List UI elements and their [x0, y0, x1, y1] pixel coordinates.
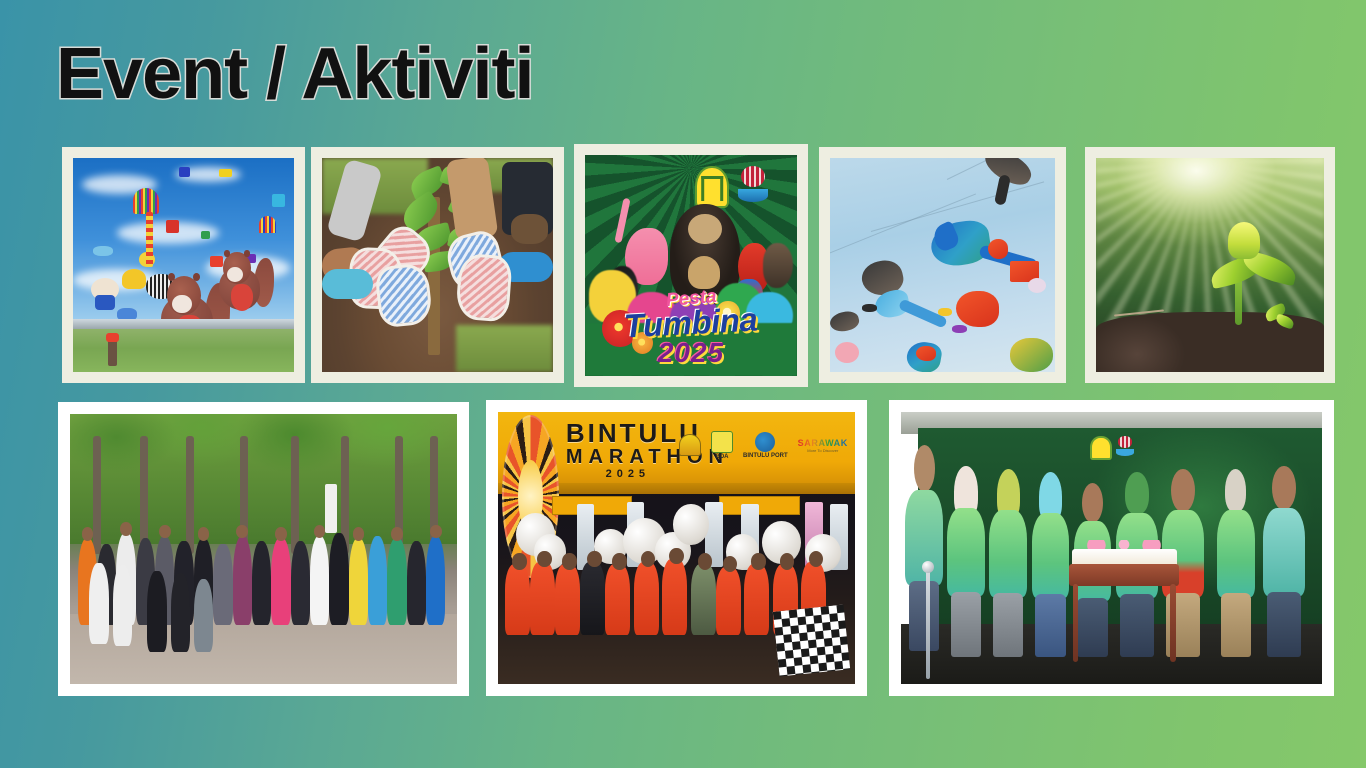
- attendee: [989, 469, 1027, 657]
- photo-frame-cake-cutting-ceremony[interactable]: [889, 400, 1334, 696]
- council-shield-logo: [695, 166, 729, 208]
- stanchion-post: [926, 570, 930, 679]
- sarawak-crest-logo: [679, 434, 701, 457]
- attendee: [1217, 469, 1255, 657]
- marathon-title-line3: 2025: [566, 469, 690, 480]
- marathon-sponsor-logos: BDA BINTULU PORT SARAWAK More To Discove…: [679, 431, 848, 461]
- ceremony-table: [1069, 564, 1178, 662]
- squirrel-kite: [219, 252, 272, 320]
- photo-frame-community-run-group[interactable]: [58, 402, 469, 696]
- council-shield-logo: [1090, 436, 1112, 460]
- photo-animal-kites: [830, 158, 1055, 372]
- attendee: [905, 445, 943, 652]
- poster-logos: [695, 166, 788, 208]
- photo-cake-cutting-ceremony: [901, 412, 1322, 684]
- photo-frame-kite-festival[interactable]: [62, 147, 305, 383]
- sarawak-wordmark: SARAWAK More To Discover: [798, 438, 848, 453]
- photo-frame-pesta-tumbina-poster[interactable]: Pesta Tumbina 2025: [574, 144, 808, 387]
- kite: [956, 291, 999, 327]
- poster-title-block: Pesta Tumbina 2025: [593, 288, 788, 369]
- photo-seedling: [1096, 158, 1324, 372]
- event-photo-gallery: Pesta Tumbina 2025: [0, 0, 1366, 768]
- globe-wave-logo: [1116, 436, 1134, 456]
- checkered-flag: [773, 604, 851, 676]
- photo-bintulu-marathon: BINTULU MARATHON 2025 BDA BINTULU PORT: [498, 412, 855, 684]
- balloon: [673, 504, 709, 545]
- attendee: [1032, 472, 1070, 657]
- photo-community-run-group: [70, 414, 457, 684]
- attendee: [1263, 466, 1305, 656]
- photo-frame-animal-kites[interactable]: [819, 147, 1066, 383]
- globe-wave-logo: [738, 166, 768, 204]
- deer-graphic: [763, 243, 793, 287]
- photo-tree-planting: [322, 158, 553, 372]
- photo-frame-bintulu-marathon[interactable]: BINTULU MARATHON 2025 BDA BINTULU PORT: [486, 400, 867, 696]
- photo-pesta-tumbina-poster: Pesta Tumbina 2025: [585, 155, 797, 376]
- attendee: [947, 466, 985, 656]
- photo-frame-tree-planting[interactable]: [311, 147, 564, 383]
- bintulu-port-logo: BINTULU PORT: [743, 432, 788, 460]
- bda-logo: BDA: [711, 431, 733, 461]
- photo-frame-seedling[interactable]: [1085, 147, 1335, 383]
- photo-kite-festival: [73, 158, 294, 372]
